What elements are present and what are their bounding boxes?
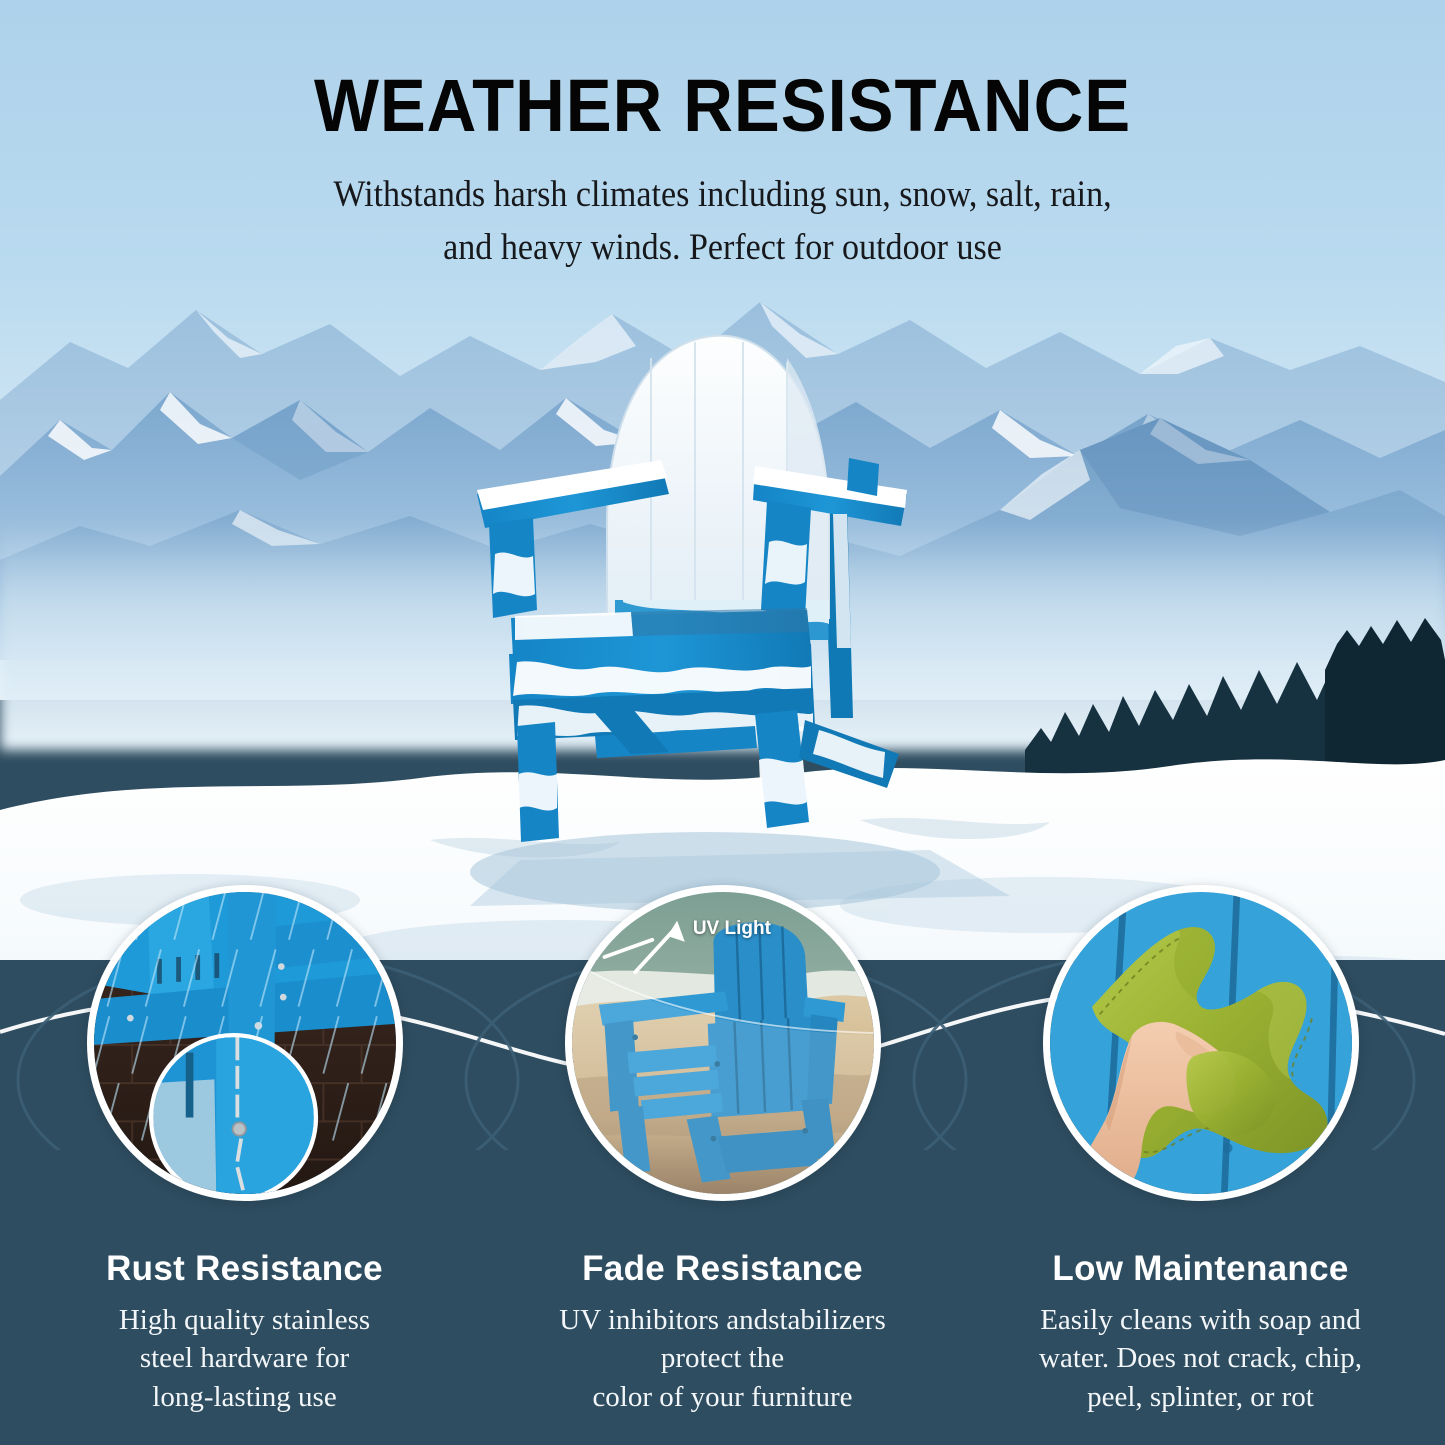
feature-desc-line-2: steel hardware for bbox=[119, 1339, 370, 1377]
feature-description: UV inhibitors andstabilizers protect the… bbox=[559, 1301, 885, 1416]
feature-desc-line-2: protect the bbox=[559, 1339, 885, 1377]
feature-title: Low Maintenance bbox=[1052, 1249, 1348, 1289]
infographic-canvas: WEATHER RESISTANCE Withstands harsh clim… bbox=[0, 0, 1445, 1445]
feature-title: Fade Resistance bbox=[582, 1249, 863, 1289]
page-subtitle: Withstands harsh climates including sun,… bbox=[58, 169, 1387, 274]
feature-desc-line-1: Easily cleans with soap and bbox=[1039, 1301, 1362, 1339]
page-title: WEATHER RESISTANCE bbox=[51, 68, 1395, 143]
feature-desc-line-3: color of your furniture bbox=[559, 1378, 885, 1416]
feature-fade-resistance: UV Light Fade Resistance UV inhibitors a… bbox=[513, 885, 933, 1416]
feature-list: Rust Resistance High quality stainless s… bbox=[0, 885, 1445, 1425]
subtitle-line-2: and heavy winds. Perfect for outdoor use bbox=[58, 222, 1387, 275]
feature-description: Easily cleans with soap and water. Does … bbox=[1039, 1301, 1362, 1416]
subtitle-line-1: Withstands harsh climates including sun,… bbox=[58, 169, 1387, 222]
feature-image-fade-resistance[interactable]: UV Light bbox=[565, 885, 881, 1201]
feature-desc-line-2: water. Does not crack, chip, bbox=[1039, 1339, 1362, 1377]
feature-desc-line-1: UV inhibitors andstabilizers bbox=[559, 1301, 885, 1339]
feature-image-low-maintenance[interactable] bbox=[1043, 885, 1359, 1201]
feature-image-rust-resistance[interactable] bbox=[87, 885, 403, 1201]
header-block: WEATHER RESISTANCE Withstands harsh clim… bbox=[0, 68, 1445, 275]
feature-desc-line-3: peel, splinter, or rot bbox=[1039, 1378, 1362, 1416]
hero-chair-image bbox=[455, 318, 925, 858]
feature-title: Rust Resistance bbox=[106, 1249, 383, 1289]
feature-description: High quality stainless steel hardware fo… bbox=[119, 1301, 370, 1416]
feature-rust-resistance: Rust Resistance High quality stainless s… bbox=[35, 885, 455, 1416]
feature-low-maintenance: Low Maintenance Easily cleans with soap … bbox=[991, 885, 1411, 1416]
feature-desc-line-1: High quality stainless bbox=[119, 1301, 370, 1339]
feature-desc-line-3: long-lasting use bbox=[119, 1378, 370, 1416]
